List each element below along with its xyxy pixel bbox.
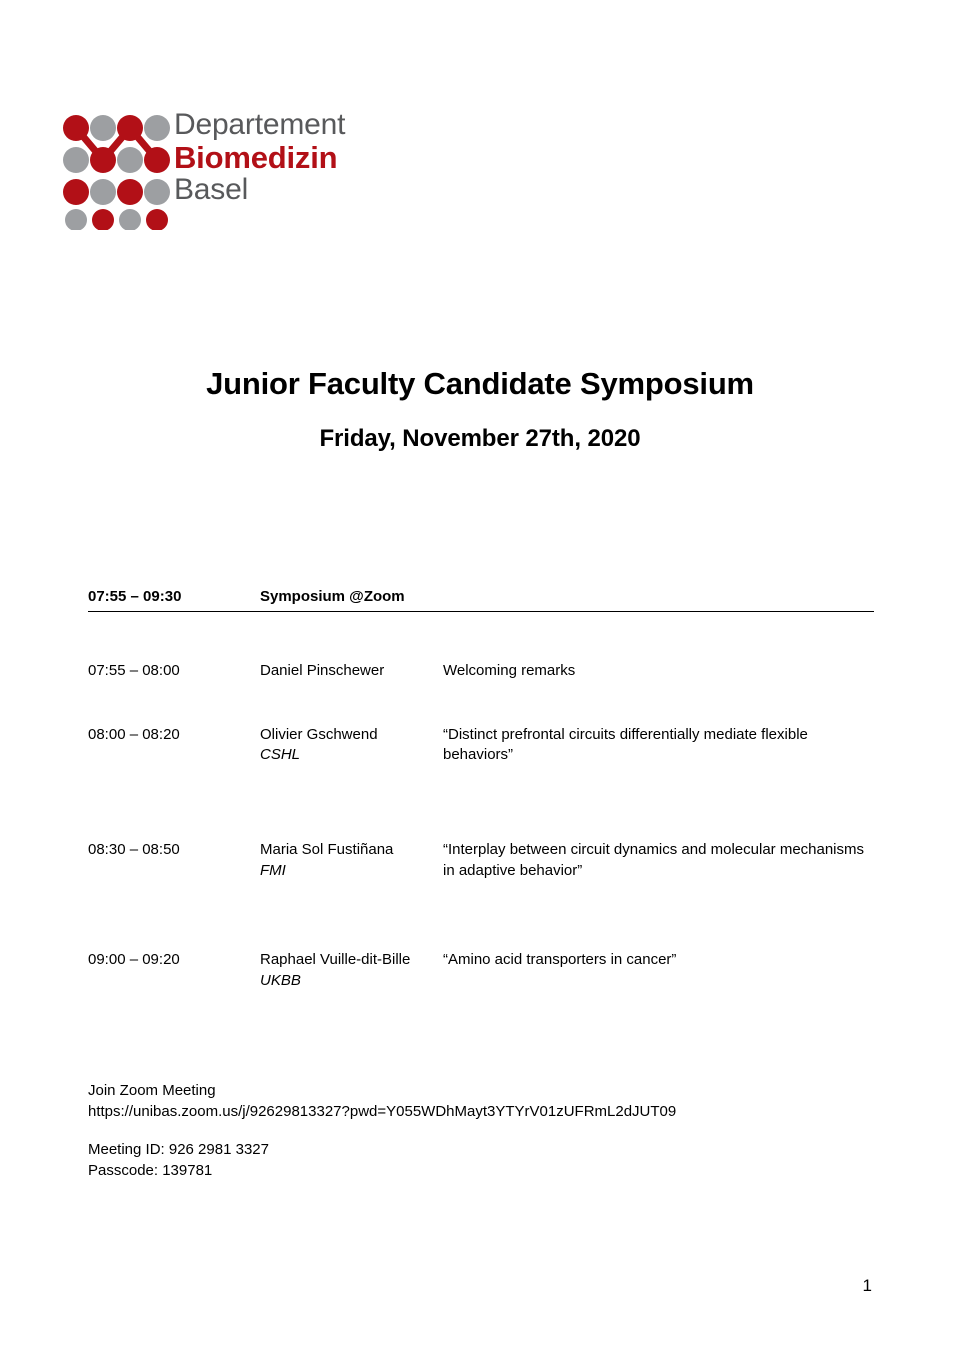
row-time: 08:00 – 08:20: [88, 725, 260, 766]
schedule-header-spacer: [443, 588, 874, 605]
row-speaker: Maria Sol Fustiñana FMI: [260, 840, 443, 881]
speaker-affiliation: FMI: [260, 861, 443, 882]
row-speaker: Olivier Gschwend CSHL: [260, 725, 443, 766]
row-talk: Welcoming remarks: [443, 661, 874, 682]
row-talk: “Distinct prefrontal circuits differenti…: [443, 725, 874, 766]
document-page: Departement Biomedizin Basel Junior Facu…: [0, 0, 960, 1358]
zoom-credentials-block: Meeting ID: 926 2981 3327 Passcode: 1397…: [88, 1139, 676, 1182]
zoom-join-block: Join Zoom Meeting https://unibas.zoom.us…: [88, 1080, 676, 1123]
schedule-header-row: 07:55 – 09:30 Symposium @Zoom: [88, 588, 874, 612]
logo-dot-grid-icon: [62, 112, 170, 230]
row-speaker: Raphael Vuille-dit-Bille UKBB: [260, 950, 443, 991]
schedule-table: 07:55 – 09:30 Symposium @Zoom 07:55 – 08…: [88, 588, 874, 992]
zoom-meeting-details: Join Zoom Meeting https://unibas.zoom.us…: [88, 1080, 676, 1181]
logo-word-basel: Basel: [174, 175, 384, 205]
departement-biomedizin-basel-logo: Departement Biomedizin Basel: [62, 112, 382, 232]
row-time: 08:30 – 08:50: [88, 840, 260, 881]
row-talk: “Interplay between circuit dynamics and …: [443, 840, 874, 881]
row-speaker: Daniel Pinschewer: [260, 661, 443, 682]
page-number: 1: [863, 1276, 872, 1296]
row-time: 09:00 – 09:20: [88, 950, 260, 991]
schedule-header-session: Symposium @Zoom: [260, 588, 443, 605]
table-row: 08:00 – 08:20 Olivier Gschwend CSHL “Dis…: [88, 725, 874, 766]
page-title: Junior Faculty Candidate Symposium: [0, 366, 960, 402]
speaker-name: Olivier Gschwend: [260, 725, 443, 746]
logo-wordmark: Departement Biomedizin Basel: [174, 110, 384, 205]
logo-word-departement: Departement: [174, 110, 384, 140]
zoom-passcode: Passcode: 139781: [88, 1160, 676, 1181]
speaker-affiliation: CSHL: [260, 745, 443, 766]
row-talk: “Amino acid transporters in cancer”: [443, 950, 874, 991]
logo-connector-line: [76, 128, 157, 160]
row-time: 07:55 – 08:00: [88, 661, 260, 682]
zoom-join-label: Join Zoom Meeting: [88, 1080, 676, 1101]
schedule-header-time: 07:55 – 09:30: [88, 588, 260, 605]
talk-title: “Interplay between circuit dynamics and …: [443, 840, 874, 881]
zoom-meeting-id: Meeting ID: 926 2981 3327: [88, 1139, 676, 1160]
table-row: 09:00 – 09:20 Raphael Vuille-dit-Bille U…: [88, 950, 874, 991]
logo-word-biomedizin: Biomedizin: [174, 142, 384, 173]
speaker-affiliation: UKBB: [260, 971, 443, 992]
zoom-join-link[interactable]: https://unibas.zoom.us/j/92629813327?pwd…: [88, 1101, 676, 1122]
speaker-name: Raphael Vuille-dit-Bille: [260, 950, 443, 971]
talk-title: “Distinct prefrontal circuits differenti…: [443, 725, 874, 766]
talk-title: “Amino acid transporters in cancer”: [443, 950, 874, 971]
speaker-name: Daniel Pinschewer: [260, 661, 443, 682]
speaker-name: Maria Sol Fustiñana: [260, 840, 443, 861]
table-row: 08:30 – 08:50 Maria Sol Fustiñana FMI “I…: [88, 840, 874, 881]
page-subtitle: Friday, November 27th, 2020: [0, 425, 960, 453]
table-row: 07:55 – 08:00 Daniel Pinschewer Welcomin…: [88, 661, 874, 682]
talk-title: Welcoming remarks: [443, 661, 874, 682]
